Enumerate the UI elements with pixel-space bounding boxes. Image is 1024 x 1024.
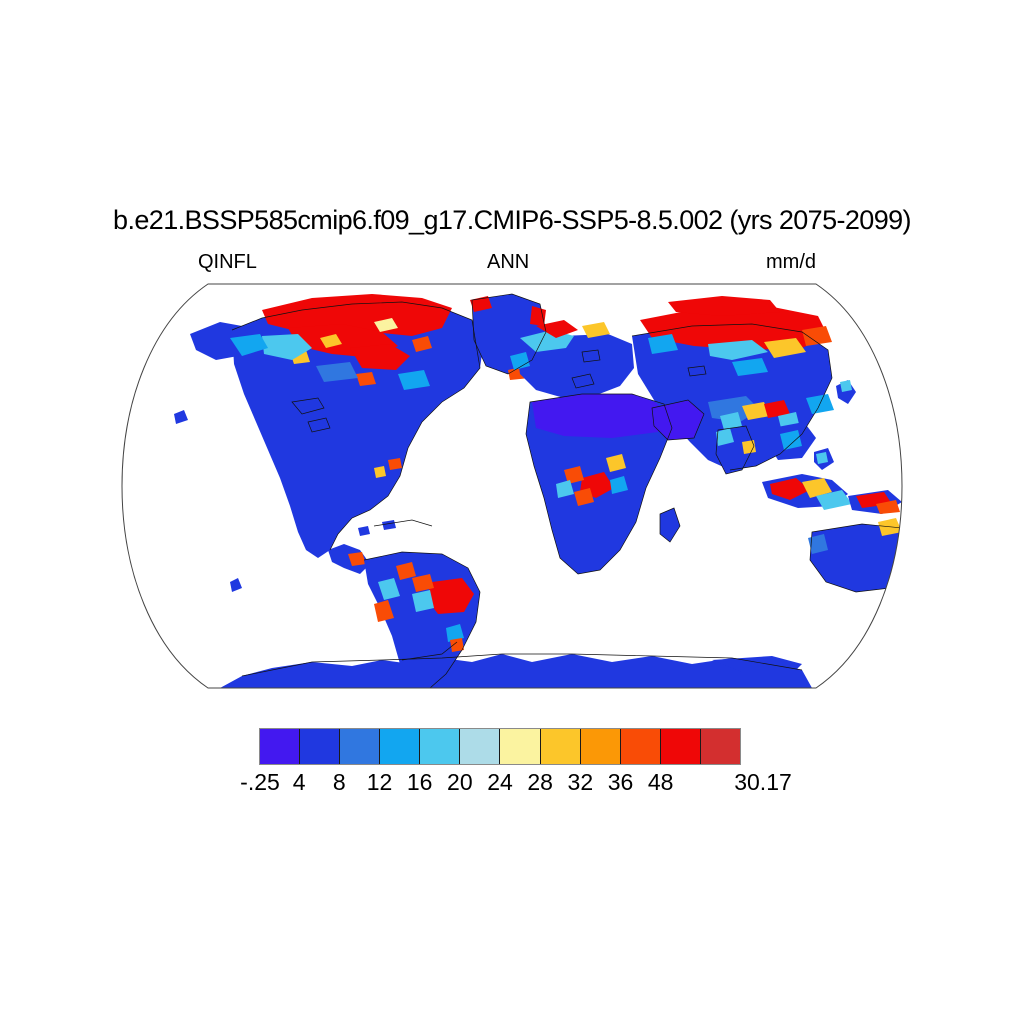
colorbar-tick-7: 28 <box>527 768 553 796</box>
page-title: b.e21.BSSP585cmip6.f09_g17.CMIP6-SSP5-8.… <box>0 204 1024 236</box>
units-label: mm/d <box>766 250 816 274</box>
season-label: ANN <box>487 250 529 274</box>
colorbar-tick-0: -.25 <box>240 768 280 796</box>
colorbar-tick-8: 32 <box>568 768 594 796</box>
colorbar-tick-6: 24 <box>487 768 513 796</box>
colorbar <box>259 728 741 765</box>
colorbar-tick-11: 30.17 <box>734 768 792 796</box>
colorbar-segment-10 <box>661 729 701 764</box>
colorbar-tick-10: 48 <box>648 768 674 796</box>
colorbar-segment-2 <box>340 729 380 764</box>
colorbar-segment-9 <box>621 729 661 764</box>
world-map <box>112 282 912 690</box>
colorbar-segment-0 <box>260 729 300 764</box>
colorbar-tick-9: 36 <box>608 768 634 796</box>
colorbar-segment-4 <box>420 729 460 764</box>
colorbar-segment-7 <box>541 729 581 764</box>
colorbar-segment-3 <box>380 729 420 764</box>
colorbar-tick-3: 12 <box>367 768 393 796</box>
colorbar-tick-4: 16 <box>407 768 433 796</box>
colorbar-tick-5: 20 <box>447 768 473 796</box>
figure-canvas: b.e21.BSSP585cmip6.f09_g17.CMIP6-SSP5-8.… <box>0 0 1024 1024</box>
colorbar-segment-8 <box>581 729 621 764</box>
colorbar-tick-1: 4 <box>293 768 306 796</box>
colorbar-segment-1 <box>300 729 340 764</box>
colorbar-tick-2: 8 <box>333 768 346 796</box>
colorbar-tick-labels: -.2548121620242832364830.17 <box>0 768 1024 798</box>
colorbar-segment-6 <box>500 729 540 764</box>
colorbar-segment-11 <box>701 729 740 764</box>
colorbar-segment-5 <box>460 729 500 764</box>
map-svg <box>112 282 912 690</box>
field-variable-label: QINFL <box>198 250 257 274</box>
